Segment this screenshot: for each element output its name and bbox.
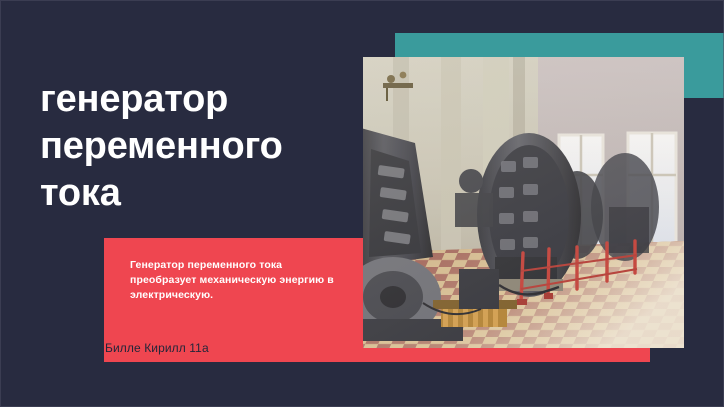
generator-hall-photo bbox=[363, 57, 684, 348]
slide-title: генератор переменного тока bbox=[40, 76, 350, 217]
author-name: Билле Кирилл 11а bbox=[105, 341, 209, 355]
slide-title-line-2: переменного bbox=[40, 123, 350, 170]
caption-text: Генератор переменного тока преобразует м… bbox=[130, 258, 340, 303]
photo-artwork bbox=[363, 57, 684, 348]
slide-title-line-1: генератор bbox=[40, 76, 350, 123]
slide-title-line-3: тока bbox=[40, 170, 350, 217]
presentation-slide: Генератор переменного тока преобразует м… bbox=[0, 0, 724, 407]
